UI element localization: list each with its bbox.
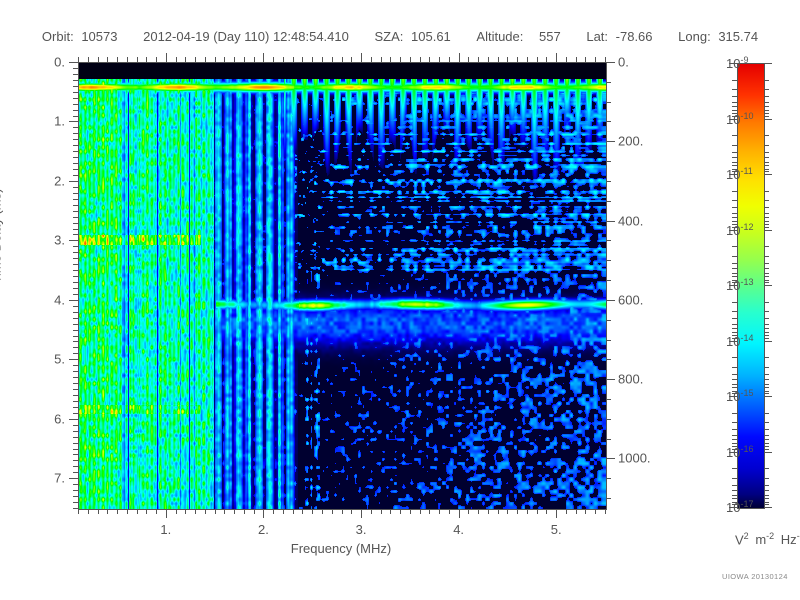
y-left-tick-minor <box>73 395 78 396</box>
y-left-tick-minor <box>73 449 78 450</box>
colorbar-tick-major <box>764 119 772 120</box>
x-tick-major-top <box>263 53 264 62</box>
y-left-tick-minor <box>73 68 78 69</box>
y-right-tick-minor <box>606 102 611 103</box>
x-tick-minor-top <box>371 57 372 62</box>
x-tick-minor-top <box>576 57 577 62</box>
colorbar-tick-minor <box>732 89 737 90</box>
x-tick-label: 3. <box>356 522 367 537</box>
x-tick-minor-top <box>88 57 89 62</box>
x-tick-minor-top <box>342 57 343 62</box>
colorbar-tick-minor <box>764 227 769 228</box>
colorbar-tick-minor <box>764 391 769 392</box>
y-right-tick-major <box>606 62 615 63</box>
y-left-tick-minor <box>73 294 78 295</box>
colorbar-tick-minor <box>732 318 737 319</box>
x-tick-minor <box>234 509 235 514</box>
x-tick-minor-top <box>332 57 333 62</box>
unit-m-exp: -2 <box>766 531 774 541</box>
x-tick-minor-top <box>449 57 450 62</box>
x-tick-minor <box>371 509 372 514</box>
x-tick-minor-top <box>156 57 157 62</box>
colorbar-label-exponent: -15 <box>740 388 753 398</box>
y-left-tick-major <box>69 121 78 122</box>
colorbar-tick-major <box>764 396 772 397</box>
x-tick-minor <box>351 509 352 514</box>
y-right-tick-minor <box>606 121 611 122</box>
y-left-tick-minor <box>73 443 78 444</box>
colorbar-label-exponent: -12 <box>740 222 753 232</box>
x-tick-minor <box>293 509 294 514</box>
colorbar-tick-minor <box>732 152 737 153</box>
x-tick-minor <box>146 509 147 514</box>
y-left-tick-minor <box>73 110 78 111</box>
colorbar-tick-minor <box>764 113 769 114</box>
y-right-tick-minor <box>606 359 611 360</box>
y-right-tick-label: 600. <box>618 292 643 307</box>
x-tick-major-top <box>556 53 557 62</box>
colorbar-tick-minor <box>764 490 769 491</box>
colorbar-label-exponent: -16 <box>740 444 753 454</box>
y-left-tick-minor <box>73 472 78 473</box>
y-left-tick-minor <box>73 318 78 319</box>
x-tick-minor-top <box>195 57 196 62</box>
colorbar-label-exponent: -17 <box>740 499 753 509</box>
colorbar-tick-minor <box>764 116 769 117</box>
x-tick-minor-top <box>185 57 186 62</box>
y-right-tick-minor <box>606 280 611 281</box>
colorbar-label-exponent: -10 <box>740 111 753 121</box>
colorbar-tick-minor <box>764 191 769 192</box>
colorbar-tick-minor <box>764 221 769 222</box>
y-left-tick-major <box>69 62 78 63</box>
colorbar-tick-minor <box>732 384 737 385</box>
y-left-tick-label: 3. <box>54 233 65 248</box>
credit-text: UIOWA 20130124 <box>722 572 788 581</box>
x-tick-minor-top <box>137 57 138 62</box>
x-tick-minor <box>205 509 206 514</box>
y-right-tick-label: 200. <box>618 134 643 149</box>
colorbar-tick-minor <box>764 302 769 303</box>
x-tick-minor <box>107 509 108 514</box>
y-left-tick-minor <box>73 389 78 390</box>
y-left-tick-minor <box>73 425 78 426</box>
y-left-tick-minor <box>73 234 78 235</box>
y-left-tick-major <box>69 300 78 301</box>
x-tick-minor-top <box>429 57 430 62</box>
x-tick-label: 5. <box>551 522 562 537</box>
y-left-tick-major <box>69 359 78 360</box>
y-right-tick-minor <box>606 478 611 479</box>
colorbar-label-mantissa: 10 <box>726 56 740 71</box>
colorbar-tick-minor <box>732 191 737 192</box>
x-tick-minor-top <box>585 57 586 62</box>
colorbar-tick-minor <box>764 498 769 499</box>
colorbar-tick-minor <box>764 387 769 388</box>
y-right-tick-minor <box>606 161 611 162</box>
colorbar-tick-minor <box>764 335 769 336</box>
y-left-tick-minor <box>73 484 78 485</box>
colorbar-tick-minor <box>764 152 769 153</box>
y-left-tick-minor <box>73 276 78 277</box>
colorbar-tick-minor <box>732 439 737 440</box>
colorbar-tick-minor <box>764 80 769 81</box>
x-tick-minor <box>537 509 538 514</box>
x-tick-minor <box>273 509 274 514</box>
x-tick-minor-top <box>390 57 391 62</box>
y-left-tick-minor <box>73 454 78 455</box>
colorbar-tick-minor <box>764 263 769 264</box>
y-left-tick-minor <box>73 116 78 117</box>
x-tick-minor-top <box>176 57 177 62</box>
x-tick-minor <box>585 509 586 514</box>
lat-label: Lat: <box>586 29 608 44</box>
y-left-tick-major <box>69 181 78 182</box>
colorbar-tick-minor <box>764 379 769 380</box>
y-left-tick-minor <box>73 86 78 87</box>
y-left-tick-minor <box>73 252 78 253</box>
y-right-tick-major <box>606 141 615 142</box>
y-left-tick-minor <box>73 490 78 491</box>
colorbar-tick-minor <box>764 449 769 450</box>
y-left-tick-minor <box>73 217 78 218</box>
colorbar-tick-minor <box>764 157 769 158</box>
colorbar-label-mantissa: 10 <box>726 334 740 349</box>
y-left-tick-minor <box>73 431 78 432</box>
colorbar-tick-minor <box>732 102 737 103</box>
x-tick-minor-top <box>498 57 499 62</box>
y-right-tick-major <box>606 458 615 459</box>
y-left-tick-label: 6. <box>54 411 65 426</box>
x-tick-minor <box>400 509 401 514</box>
y-left-tick-minor <box>73 347 78 348</box>
x-tick-minor <box>176 509 177 514</box>
colorbar-tick-minor <box>732 207 737 208</box>
colorbar-tick-minor <box>732 324 737 325</box>
colorbar-label-exponent: -14 <box>740 333 753 343</box>
lat-value: -78.66 <box>616 29 653 44</box>
y-right-tick-minor <box>606 439 611 440</box>
colorbar-tick-minor <box>732 485 737 486</box>
colorbar-tick-minor <box>764 367 769 368</box>
colorbar-tick-minor <box>732 413 737 414</box>
x-tick-minor <box>312 509 313 514</box>
colorbar-tick-minor <box>732 256 737 257</box>
colorbar-label-exponent: -11 <box>740 166 752 176</box>
colorbar-tick-minor <box>764 495 769 496</box>
x-axis-title: Frequency (MHz) <box>291 541 391 556</box>
colorbar-tick-minor <box>732 468 737 469</box>
y-left-tick-minor <box>73 341 78 342</box>
y-left-tick-minor <box>73 92 78 93</box>
y-left-tick-minor <box>73 330 78 331</box>
y-axis-left-title: Time Delay (ms) <box>0 189 4 284</box>
y-left-tick-minor <box>73 169 78 170</box>
x-tick-minor <box>498 509 499 514</box>
x-tick-minor-top <box>244 57 245 62</box>
colorbar-tick-minor <box>764 165 769 166</box>
colorbar-tick-minor <box>732 374 737 375</box>
x-tick-minor <box>215 509 216 514</box>
colorbar-tick-minor <box>732 273 737 274</box>
x-tick-minor-top <box>546 57 547 62</box>
x-tick-minor <box>546 509 547 514</box>
x-tick-minor-top <box>117 57 118 62</box>
x-tick-minor <box>322 509 323 514</box>
colorbar-tick-minor <box>764 89 769 90</box>
y-left-tick-minor <box>73 246 78 247</box>
x-tick-minor-top <box>517 57 518 62</box>
colorbar-tick-minor <box>764 96 769 97</box>
x-tick-minor <box>420 509 421 514</box>
x-tick-minor-top <box>127 57 128 62</box>
colorbar-tick-minor <box>764 169 769 170</box>
y-left-tick-minor <box>73 104 78 105</box>
x-tick-minor <box>381 509 382 514</box>
colorbar-tick-minor <box>764 429 769 430</box>
y-left-tick-minor <box>73 288 78 289</box>
x-tick-minor <box>517 509 518 514</box>
y-left-tick-minor <box>73 371 78 372</box>
y-right-tick-label: 1000. <box>618 451 651 466</box>
colorbar-tick-minor <box>764 374 769 375</box>
colorbar-tick-minor <box>764 273 769 274</box>
colorbar-tick-minor <box>764 324 769 325</box>
y-left-tick-minor <box>73 365 78 366</box>
colorbar-tick-minor <box>764 384 769 385</box>
y-left-tick-minor <box>73 74 78 75</box>
unit-hz: Hz <box>781 532 797 547</box>
y-left-tick-label: 4. <box>54 292 65 307</box>
colorbar-tick-minor <box>764 357 769 358</box>
y-left-tick-minor <box>73 401 78 402</box>
x-tick-minor-top <box>254 57 255 62</box>
x-tick-label: 4. <box>453 522 464 537</box>
x-tick-minor-top <box>283 57 284 62</box>
x-tick-minor <box>390 509 391 514</box>
colorbar-tick-minor <box>732 422 737 423</box>
y-right-tick-minor <box>606 498 611 499</box>
colorbar-tick-minor <box>732 328 737 329</box>
x-tick-minor-top <box>381 57 382 62</box>
y-left-tick-minor <box>73 127 78 128</box>
y-left-tick-minor <box>73 223 78 224</box>
colorbar-tick-minor <box>764 280 769 281</box>
y-right-tick-minor <box>606 201 611 202</box>
colorbar-tick-minor <box>764 443 769 444</box>
colorbar-tick-minor <box>732 302 737 303</box>
spectrogram-image <box>79 63 606 509</box>
y-left-tick-minor <box>73 336 78 337</box>
sza-value: 105.61 <box>411 29 451 44</box>
x-tick-minor-top <box>537 57 538 62</box>
x-tick-major-top <box>166 53 167 62</box>
y-left-tick-minor <box>73 466 78 467</box>
x-tick-minor-top <box>234 57 235 62</box>
y-left-tick-minor <box>73 324 78 325</box>
colorbar-tick-minor <box>732 80 737 81</box>
y-right-tick-minor <box>606 82 611 83</box>
x-tick-major <box>263 509 264 518</box>
x-tick-minor <box>605 509 606 514</box>
x-tick-minor <box>283 509 284 514</box>
colorbar-tick-minor <box>764 311 769 312</box>
x-tick-minor <box>224 509 225 514</box>
x-tick-minor-top <box>420 57 421 62</box>
x-tick-minor-top <box>312 57 313 62</box>
y-left-tick-minor <box>73 175 78 176</box>
colorbar-tick-minor <box>732 490 737 491</box>
colorbar-tick-minor <box>732 367 737 368</box>
colorbar-tick-minor <box>764 393 769 394</box>
x-tick-minor-top <box>302 57 303 62</box>
long-value: 315.74 <box>718 29 758 44</box>
y-left-tick-minor <box>73 193 78 194</box>
y-right-tick-minor <box>606 240 611 241</box>
colorbar-label-exponent: -9 <box>740 55 748 65</box>
orbit-label: Orbit: <box>42 29 74 44</box>
y-right-tick-minor <box>606 340 611 341</box>
altitude-label: Altitude: <box>476 29 523 44</box>
x-tick-minor <box>137 509 138 514</box>
colorbar-tick-minor <box>732 145 737 146</box>
y-left-tick-minor <box>73 353 78 354</box>
colorbar-tick-minor <box>732 435 737 436</box>
colorbar-units: V2 m-2 Hz-1 <box>735 531 800 547</box>
y-left-tick-minor <box>73 437 78 438</box>
x-tick-minor-top <box>322 57 323 62</box>
colorbar-tick-minor <box>732 268 737 269</box>
colorbar-tick-minor <box>732 96 737 97</box>
y-left-tick-label: 7. <box>54 471 65 486</box>
colorbar-tick-minor <box>732 200 737 201</box>
y-left-tick-minor <box>73 98 78 99</box>
colorbar-tick-minor <box>764 106 769 107</box>
colorbar-tick-minor <box>764 171 769 172</box>
colorbar-tick-major <box>764 63 772 64</box>
y-left-tick-minor <box>73 306 78 307</box>
x-tick-minor-top <box>107 57 108 62</box>
colorbar-tick-minor <box>732 246 737 247</box>
y-left-tick-minor <box>73 413 78 414</box>
colorbar-tick-minor <box>732 379 737 380</box>
x-tick-minor <box>595 509 596 514</box>
colorbar-tick-minor <box>764 217 769 218</box>
x-tick-minor-top <box>566 57 567 62</box>
x-tick-minor-top <box>146 57 147 62</box>
x-tick-minor <box>254 509 255 514</box>
y-left-tick-minor <box>73 157 78 158</box>
colorbar-tick-minor <box>764 135 769 136</box>
y-left-tick-minor <box>73 139 78 140</box>
y-left-tick-minor <box>73 264 78 265</box>
x-tick-minor-top <box>410 57 411 62</box>
colorbar-tick-minor <box>764 328 769 329</box>
y-left-tick-label: 2. <box>54 173 65 188</box>
y-left-tick-minor <box>73 407 78 408</box>
orbit-value: 10573 <box>81 29 117 44</box>
y-left-tick-minor <box>73 496 78 497</box>
colorbar-tick-minor <box>764 246 769 247</box>
y-left-tick-minor <box>73 282 78 283</box>
colorbar-tick-minor <box>764 502 769 503</box>
sza-label: SZA: <box>374 29 403 44</box>
x-tick-minor <box>302 509 303 514</box>
colorbar-tick-major <box>764 285 772 286</box>
x-tick-minor-top <box>293 57 294 62</box>
colorbar-tick-minor <box>764 468 769 469</box>
colorbar-tick-minor <box>764 338 769 339</box>
colorbar-tick-major <box>764 174 772 175</box>
x-tick-minor <box>185 509 186 514</box>
x-tick-major-top <box>459 53 460 62</box>
x-tick-minor <box>507 509 508 514</box>
y-right-tick-label: 400. <box>618 213 643 228</box>
x-tick-minor <box>98 509 99 514</box>
colorbar-label-mantissa: 10 <box>726 445 740 460</box>
x-tick-major <box>556 509 557 518</box>
y-right-tick-label: 0. <box>618 55 629 70</box>
colorbar-tick-minor <box>732 157 737 158</box>
y-right-tick-minor <box>606 419 611 420</box>
y-left-tick-minor <box>73 229 78 230</box>
long-label: Long: <box>678 29 711 44</box>
x-tick-minor-top <box>527 57 528 62</box>
colorbar-label-mantissa: 10 <box>726 112 740 127</box>
x-tick-minor <box>439 509 440 514</box>
y-left-tick-label: 0. <box>54 55 65 70</box>
y-left-tick-major <box>69 419 78 420</box>
x-tick-label: 2. <box>258 522 269 537</box>
x-tick-minor <box>244 509 245 514</box>
colorbar-tick-minor <box>764 332 769 333</box>
x-tick-minor <box>195 509 196 514</box>
x-tick-minor <box>117 509 118 514</box>
x-tick-minor <box>410 509 411 514</box>
unit-m: m <box>755 532 766 547</box>
colorbar-tick-minor <box>732 495 737 496</box>
x-tick-minor <box>478 509 479 514</box>
colorbar-tick-minor <box>764 422 769 423</box>
x-tick-major <box>459 509 460 518</box>
colorbar-tick-minor <box>732 357 737 358</box>
x-tick-minor-top <box>400 57 401 62</box>
x-tick-major-top <box>361 53 362 62</box>
y-left-tick-minor <box>73 502 78 503</box>
y-left-tick-minor <box>73 163 78 164</box>
y-left-tick-minor <box>73 199 78 200</box>
colorbar-tick-minor <box>764 435 769 436</box>
colorbar-tick-minor <box>764 282 769 283</box>
y-left-tick-minor <box>73 145 78 146</box>
x-tick-minor-top <box>507 57 508 62</box>
x-tick-minor <box>156 509 157 514</box>
colorbar-tick-minor <box>764 256 769 257</box>
colorbar-tick-major <box>764 507 772 508</box>
y-left-tick-label: 1. <box>54 114 65 129</box>
x-tick-minor <box>488 509 489 514</box>
colorbar-label-mantissa: 10 <box>726 223 740 238</box>
colorbar-tick-minor <box>764 446 769 447</box>
x-tick-minor <box>566 509 567 514</box>
colorbar-tick-minor <box>764 145 769 146</box>
y-left-tick-minor <box>73 508 78 509</box>
y-right-tick-minor <box>606 399 611 400</box>
colorbar-label-mantissa: 10 <box>726 278 740 293</box>
colorbar-tick-minor <box>764 485 769 486</box>
x-tick-minor <box>576 509 577 514</box>
x-tick-minor-top <box>98 57 99 62</box>
